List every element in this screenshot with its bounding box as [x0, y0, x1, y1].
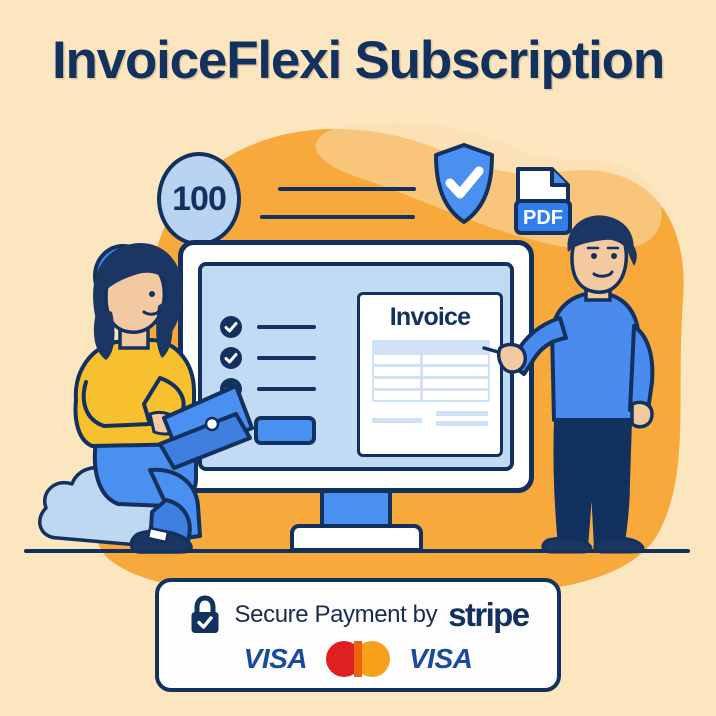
mastercard-overlap: [354, 641, 362, 677]
secure-payment-text: Secure Payment by: [235, 601, 438, 629]
checklist-line: [257, 325, 316, 329]
check-circle-icon: [220, 347, 242, 369]
invoice-table-row: [374, 355, 488, 364]
divider-line-1: [278, 187, 416, 191]
mastercard-logo: [326, 641, 390, 677]
invoice-table-cell: [374, 367, 420, 376]
stripe-logo: stripe: [448, 596, 528, 634]
invoice-table-cell: [374, 391, 420, 400]
invoice-table-cell: [374, 379, 420, 388]
check-circle-icon: [92, 243, 154, 309]
check-circle-icon: [220, 378, 242, 400]
visa-logo: VISA: [244, 643, 307, 675]
pdf-label: PDF: [523, 207, 563, 229]
shield-check-icon: [432, 143, 496, 225]
check-circle-icon: [220, 316, 242, 338]
invoice-document-card: Invoice: [357, 292, 503, 457]
invoice-table-row: [374, 367, 488, 376]
invoice-footer-line-left: [372, 418, 422, 423]
checklist-item: [220, 378, 316, 400]
invoice-heading: Invoice: [372, 303, 488, 332]
invoice-table: [372, 340, 490, 402]
invoice-footer-lines-right: [436, 411, 488, 431]
divider-line-2: [260, 215, 415, 219]
invoice-table-cell: [423, 391, 488, 400]
secure-payment-badge: Secure Payment by stripe VISA VISA: [155, 578, 561, 692]
count-circle-badge: 100: [157, 152, 241, 246]
pdf-file-icon: PDF: [512, 165, 574, 237]
ground-line: [24, 549, 690, 553]
primary-action-button[interactable]: [254, 416, 316, 445]
monitor-screen: Invoice: [198, 262, 514, 471]
monitor-base: [290, 524, 423, 552]
invoice-table-row: [374, 379, 488, 388]
checklist-item: [220, 316, 316, 338]
checklist-line: [257, 356, 316, 360]
invoice-table-cell: [423, 367, 488, 376]
page-title: InvoiceFlexi Subscription: [0, 30, 716, 91]
illustration-canvas: InvoiceFlexi Subscription 100 PDF: [0, 0, 716, 716]
lock-check-icon: [188, 595, 222, 635]
monitor-frame: Invoice: [178, 240, 534, 493]
invoice-footer: [372, 411, 488, 431]
checklist-line: [257, 387, 316, 391]
accepted-cards-row: VISA VISA: [244, 641, 473, 677]
secure-payment-row: Secure Payment by stripe: [188, 595, 529, 635]
invoice-table-header-row: [374, 342, 488, 352]
count-badge-value: 100: [172, 180, 226, 219]
visa-logo: VISA: [409, 643, 472, 675]
invoice-table-cell: [423, 355, 488, 364]
checklist-item: [220, 347, 316, 369]
invoice-table-cell: [423, 379, 488, 388]
invoice-table-cell: [374, 355, 420, 364]
invoice-table-row: [374, 391, 488, 400]
